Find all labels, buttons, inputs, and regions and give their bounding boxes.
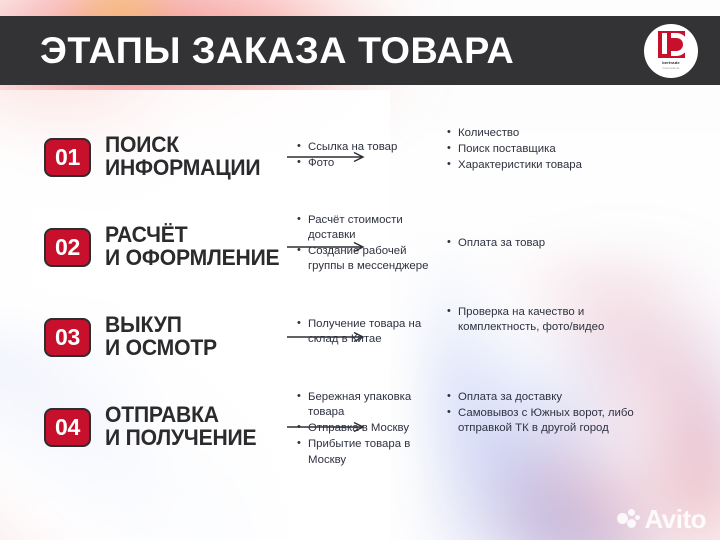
list-item: Отправка в Москву: [297, 421, 437, 436]
step-details-col-c: Количество Поиск поставщика Характеристи…: [447, 112, 637, 174]
step-row: 03 ВЫКУП И ОСМОТР Получение товара на ск…: [0, 292, 720, 382]
logo-mark-icon: [658, 31, 685, 58]
list-item: Количество: [447, 126, 637, 141]
step-title: ПОИСК ИНФОРМАЦИИ: [105, 134, 260, 180]
list-item: Создание рабочей группы в мессенджере: [297, 244, 437, 274]
step-title-line2: И ОФОРМЛЕНИЕ: [105, 247, 279, 270]
step-row: 02 РАСЧЁТ И ОФОРМЛЕНИЕ Расчёт стоимости …: [0, 202, 720, 292]
step-number-badge: 01: [44, 138, 91, 177]
avito-watermark-label: Avito: [644, 506, 706, 532]
step-details-col-b: Расчёт стоимости доставки Создание рабоч…: [297, 202, 437, 276]
list-item: Оплата за товар: [447, 236, 637, 251]
step-details-col-c: Оплата за доставку Самовывоз с Южных вор…: [447, 382, 637, 437]
page-title: ЭТАПЫ ЗАКАЗА ТОВАРА: [40, 32, 514, 69]
step-details-col-b: Бережная упаковка товара Отправка в Моск…: [297, 382, 437, 469]
step-heading-01: 01 ПОИСК ИНФОРМАЦИИ: [0, 112, 286, 202]
list-item: Оплата за доставку: [447, 390, 637, 405]
step-title-line1: ВЫКУП: [105, 314, 217, 337]
step-title-line1: ПОИСК: [105, 134, 260, 157]
avito-watermark: Avito: [617, 506, 706, 532]
step-title: ОТПРАВКА И ПОЛУЧЕНИЕ: [105, 404, 256, 450]
list-item: Расчёт стоимости доставки: [297, 213, 437, 243]
step-number-badge: 04: [44, 408, 91, 447]
list-item: Ссылка на товар: [297, 140, 437, 155]
list-item: Получение товара на склад в Китае: [297, 317, 437, 347]
steps-list: 01 ПОИСК ИНФОРМАЦИИ Ссылка на товар Фото: [0, 112, 720, 472]
list-item: Фото: [297, 156, 437, 171]
step-title-line2: ИНФОРМАЦИИ: [105, 157, 260, 180]
step-number-badge: 03: [44, 318, 91, 357]
step-details-col-c: Оплата за товар: [447, 202, 637, 252]
step-title-line1: ОТПРАВКА: [105, 404, 256, 427]
step-number-label: 02: [55, 236, 80, 259]
logo-brand-sub: international: [663, 67, 680, 70]
logo-brand-name: bertrade: [662, 60, 680, 65]
step-details-col-c: Проверка на качество и комплектность, фо…: [447, 292, 637, 336]
step-title-line1: РАСЧЁТ: [105, 224, 279, 247]
step-heading-02: 02 РАСЧЁТ И ОФОРМЛЕНИЕ: [0, 202, 286, 292]
step-row: 01 ПОИСК ИНФОРМАЦИИ Ссылка на товар Фото: [0, 112, 720, 202]
step-details-col-b: Получение товара на склад в Китае: [297, 292, 437, 348]
list-item: Характеристики товара: [447, 158, 637, 173]
list-item: Прибытие товара в Москву: [297, 437, 437, 467]
list-item: Бережная упаковка товара: [297, 390, 437, 420]
list-item: Поиск поставщика: [447, 142, 637, 157]
step-title: РАСЧЁТ И ОФОРМЛЕНИЕ: [105, 224, 279, 270]
list-item: Самовывоз с Южных ворот, либо отправкой …: [447, 406, 637, 436]
step-heading-04: 04 ОТПРАВКА И ПОЛУЧЕНИЕ: [0, 382, 286, 472]
step-number-label: 03: [55, 326, 80, 349]
avito-logo-icon: [617, 509, 639, 529]
step-number-label: 01: [55, 146, 80, 169]
step-details-col-b: Ссылка на товар Фото: [297, 112, 437, 172]
step-heading-03: 03 ВЫКУП И ОСМОТР: [0, 292, 286, 382]
poster-canvas: ЭТАПЫ ЗАКАЗА ТОВАРА bertrade internation…: [0, 0, 720, 540]
step-number-badge: 02: [44, 228, 91, 267]
step-row: 04 ОТПРАВКА И ПОЛУЧЕНИЕ Бережная упаковк…: [0, 382, 720, 472]
step-title-line2: И ПОЛУЧЕНИЕ: [105, 427, 256, 450]
list-item: Проверка на качество и комплектность, фо…: [447, 305, 637, 335]
header-bar: ЭТАПЫ ЗАКАЗА ТОВАРА bertrade internation…: [0, 16, 720, 85]
company-logo: bertrade international: [644, 24, 698, 78]
step-number-label: 04: [55, 416, 80, 439]
step-title: ВЫКУП И ОСМОТР: [105, 314, 217, 360]
step-title-line2: И ОСМОТР: [105, 337, 217, 360]
